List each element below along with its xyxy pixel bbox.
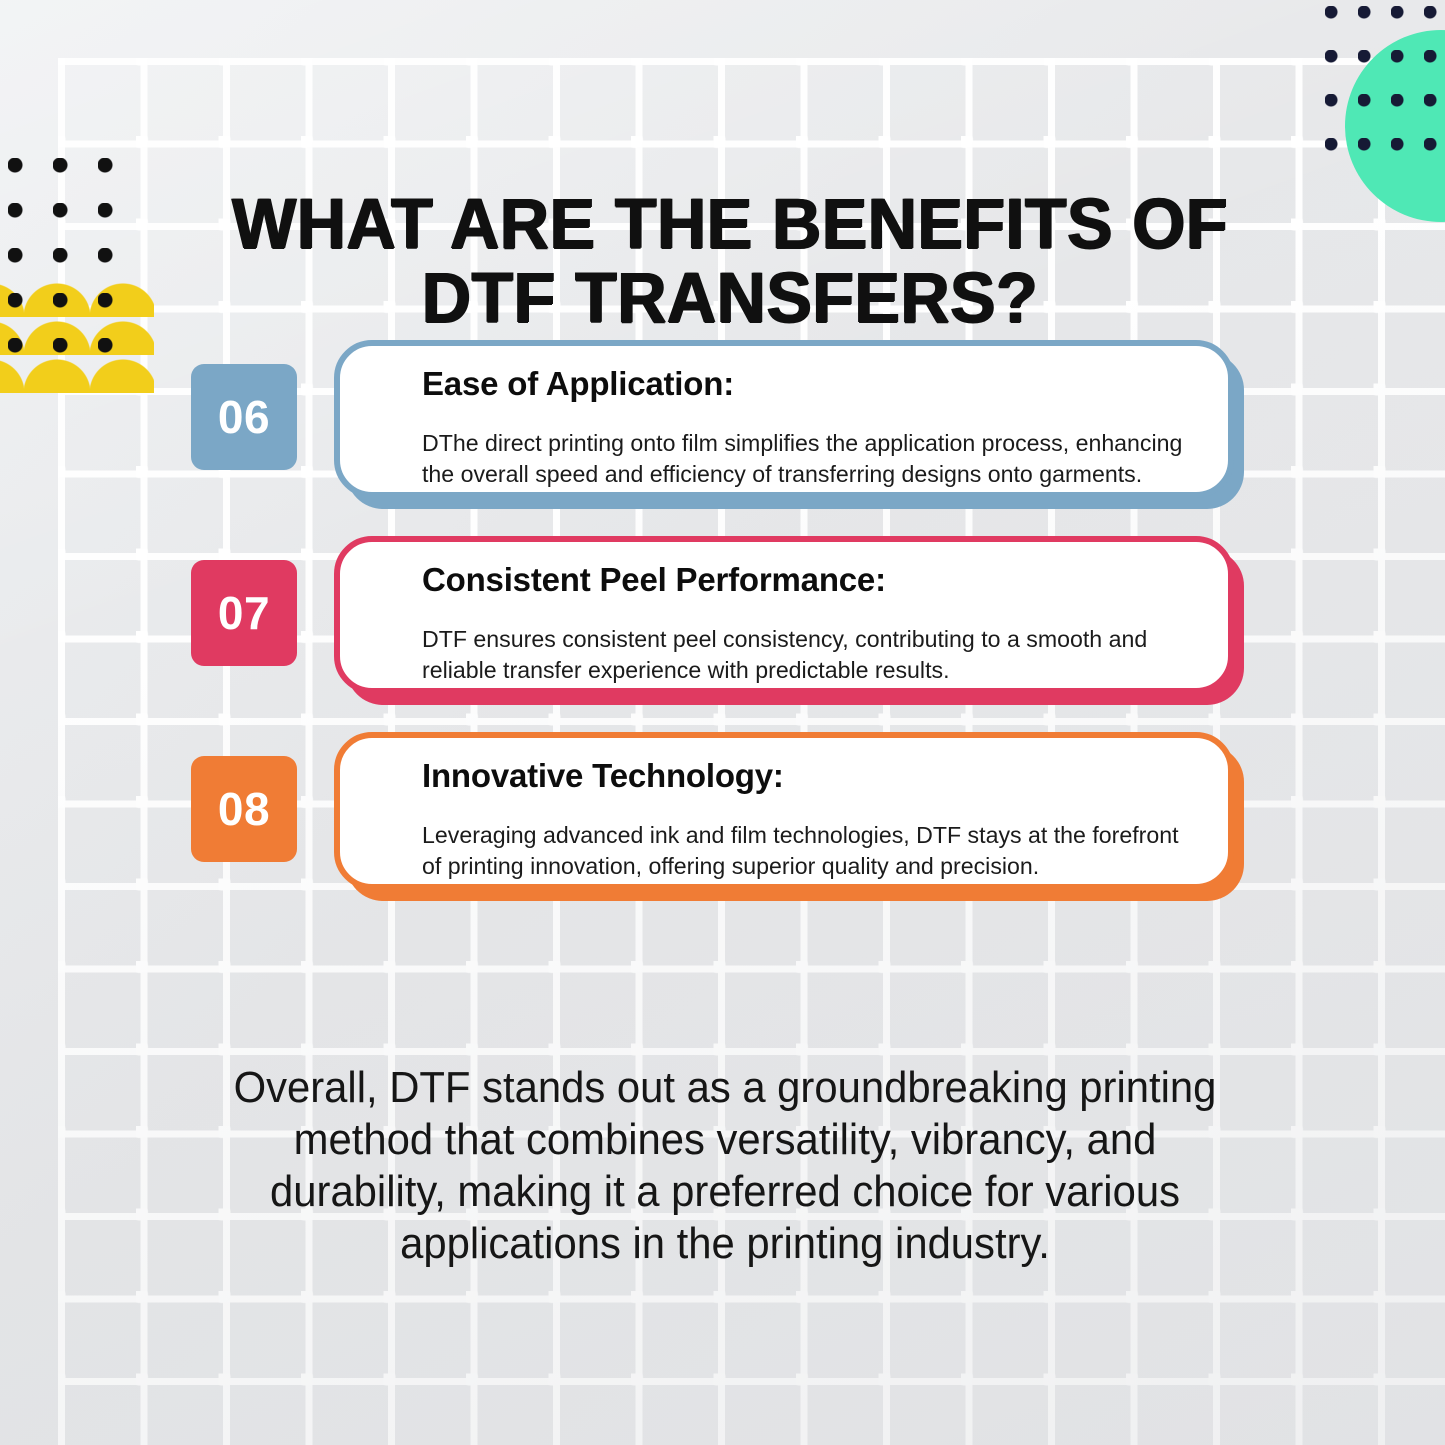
dot-grid-left-decoration: [8, 158, 130, 358]
benefit-number-badge: 08: [191, 756, 297, 862]
infographic-poster: WHAT ARE THE BENEFITS OF DTF TRANSFERS? …: [0, 0, 1445, 1445]
summary-paragraph: Overall, DTF stands out as a groundbreak…: [203, 1062, 1248, 1270]
dot-grid-top-right-decoration: [1325, 0, 1445, 178]
page-title: WHAT ARE THE BENEFITS OF DTF TRANSFERS?: [173, 188, 1287, 336]
benefit-card[interactable]: Ease of Application: DThe direct printin…: [334, 340, 1234, 498]
benefit-card-body: DTF ensures consistent peel consistency,…: [422, 624, 1186, 686]
benefit-card-list: 06 Ease of Application: DThe direct prin…: [0, 340, 1445, 928]
benefit-card-row: 06 Ease of Application: DThe direct prin…: [0, 340, 1445, 536]
benefit-card-body: Leveraging advanced ink and film technol…: [422, 820, 1186, 882]
benefit-card-title: Consistent Peel Performance:: [422, 560, 1198, 600]
benefit-card-title: Innovative Technology:: [422, 756, 1198, 796]
benefit-card-row: 07 Consistent Peel Performance: DTF ensu…: [0, 536, 1445, 732]
benefit-number-badge: 06: [191, 364, 297, 470]
benefit-card-row: 08 Innovative Technology: Leveraging adv…: [0, 732, 1445, 928]
benefit-card[interactable]: Innovative Technology: Leveraging advanc…: [334, 732, 1234, 890]
benefit-card-title: Ease of Application:: [422, 364, 1198, 404]
benefit-card[interactable]: Consistent Peel Performance: DTF ensures…: [334, 536, 1234, 694]
benefit-card-body: DThe direct printing onto film simplifie…: [422, 428, 1186, 490]
benefit-number-badge: 07: [191, 560, 297, 666]
